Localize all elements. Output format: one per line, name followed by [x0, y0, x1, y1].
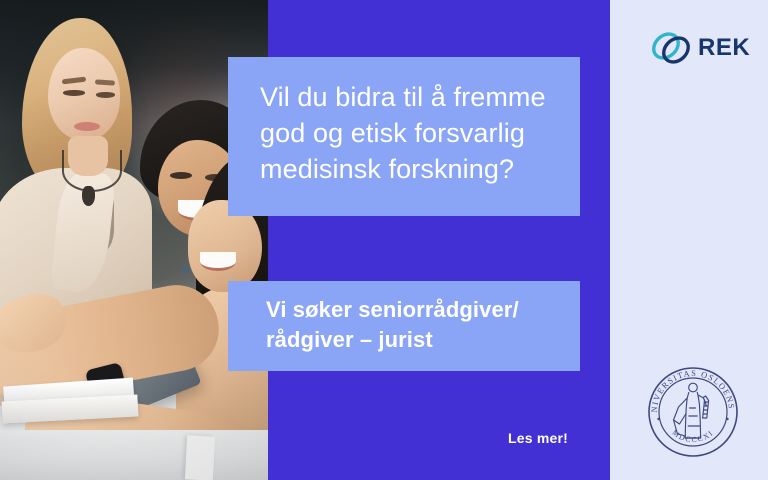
rek-wordmark: REK: [698, 36, 750, 60]
recruitment-banner: Vil du bidra til å fremme god og etisk f…: [0, 0, 768, 480]
apollo-with-lyre-icon: [674, 383, 709, 438]
interlocking-rings-icon: [650, 27, 694, 69]
photo-paper-stack: [185, 435, 215, 480]
photo-necklace-pendant: [82, 186, 95, 206]
photo-man-shirt-button-top: [182, 266, 189, 273]
uio-seal: UNIVERSITAS OSLOENSIS MDCCCXI: [643, 362, 743, 462]
photo-woman-standing-eye-right: [96, 92, 115, 98]
photo-woman-standing-lips: [74, 122, 100, 131]
rek-logo[interactable]: REK: [650, 26, 742, 70]
read-more-link[interactable]: Les mer!: [380, 430, 568, 446]
photo-woman-foreground-smile: [200, 252, 236, 271]
photo-woman-standing-eye-left: [63, 90, 85, 96]
headline-text: Vil du bidra til å fremme god og etisk f…: [260, 79, 554, 187]
job-notice-box: Vi søker seniorrådgiver/ rådgiver – juri…: [228, 281, 580, 371]
headline-box: Vil du bidra til å fremme god og etisk f…: [228, 57, 580, 216]
photo-man-eye-left: [170, 172, 192, 179]
job-notice-text: Vi søker seniorrådgiver/ rådgiver – juri…: [266, 295, 560, 355]
photo-desk: [0, 430, 268, 480]
photo-necklace: [62, 150, 122, 192]
